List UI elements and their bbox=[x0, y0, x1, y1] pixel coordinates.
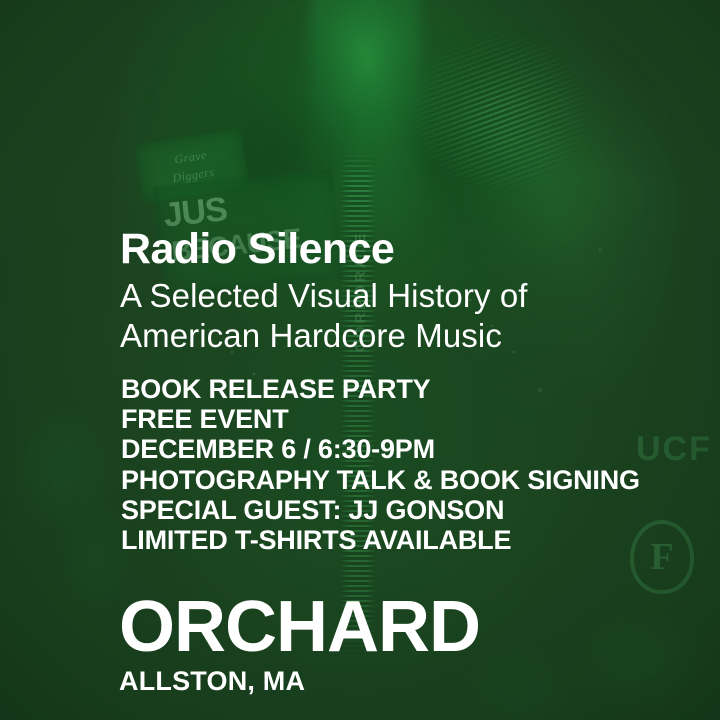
event-detail-line: DECEMBER 6 / 6:30-9PM bbox=[121, 434, 640, 464]
poster-title: Radio Silence bbox=[120, 228, 528, 271]
event-poster: Grave Diggers JUS BECAUSE CORPORATE UCF … bbox=[0, 0, 720, 720]
venue-location: ALLSTON, MA bbox=[119, 667, 480, 697]
venue-name: ORCHARD bbox=[119, 594, 480, 662]
poster-subtitle-line-2: American Hardcore Music bbox=[120, 317, 528, 355]
venue-block: ORCHARD ALLSTON, MA bbox=[119, 594, 480, 696]
title-block: Radio Silence A Selected Visual History … bbox=[120, 228, 528, 356]
poster-content: Radio Silence A Selected Visual History … bbox=[0, 0, 720, 720]
event-detail-line: BOOK RELEASE PARTY bbox=[121, 374, 640, 404]
event-detail-line: LIMITED T-SHIRTS AVAILABLE bbox=[121, 525, 640, 555]
event-details-block: BOOK RELEASE PARTY FREE EVENT DECEMBER 6… bbox=[121, 374, 640, 555]
poster-subtitle-line-1: A Selected Visual History of bbox=[120, 277, 528, 315]
event-detail-line: FREE EVENT bbox=[121, 404, 640, 434]
event-detail-line: SPECIAL GUEST: JJ GONSON bbox=[121, 495, 640, 525]
event-detail-line: PHOTOGRAPHY TALK & BOOK SIGNING bbox=[121, 465, 640, 495]
